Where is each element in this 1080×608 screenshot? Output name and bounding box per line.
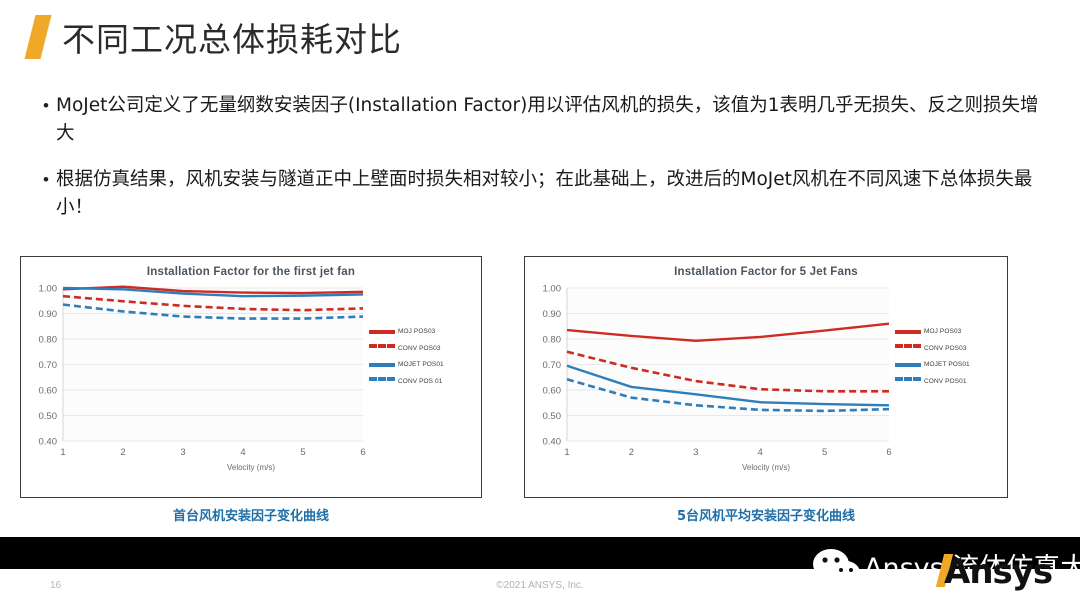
svg-text:1: 1 (564, 447, 569, 458)
legend-item: CONV POS01 (895, 377, 970, 385)
legend-item: MOJET POS01 (895, 361, 970, 368)
svg-text:3: 3 (180, 447, 185, 458)
svg-text:6: 6 (360, 447, 365, 458)
svg-text:4: 4 (240, 447, 245, 458)
svg-text:4: 4 (758, 447, 763, 458)
svg-text:0.80: 0.80 (39, 335, 58, 346)
svg-text:5: 5 (300, 447, 305, 458)
legend-label: MOJET POS01 (398, 361, 444, 368)
legend-swatch-dashed-icon (895, 344, 921, 352)
charts-row: Installation Factor for the first jet fa… (0, 256, 1080, 506)
legend-item: MOJET POS01 (369, 361, 444, 368)
page-title: 不同工况总体损耗对比 (62, 13, 402, 61)
bullet-text: 根据仿真结果，风机安装与隧道正中上壁面时损失相对较小；在此基础上，改进后的MoJ… (56, 166, 1050, 222)
legend-swatch-solid-icon (369, 330, 395, 334)
chart-5-jet-fans: Installation Factor for 5 Jet Fans 0.400… (524, 256, 1008, 498)
svg-text:3: 3 (693, 447, 698, 458)
svg-text:0.50: 0.50 (543, 411, 562, 422)
svg-text:0.70: 0.70 (39, 360, 58, 371)
caption-right: 5台风机平均安装因子变化曲线 (524, 505, 1008, 524)
svg-text:0.90: 0.90 (39, 309, 58, 320)
svg-text:0.60: 0.60 (39, 386, 58, 397)
watermark-overlay: Ansys 流体仿真大营 Ansys (812, 528, 1080, 588)
legend-swatch-dashed-icon (895, 377, 921, 385)
svg-text:6: 6 (886, 447, 891, 458)
legend-label: CONV POS01 (924, 378, 967, 385)
list-item: • 根据仿真结果，风机安装与隧道正中上壁面时损失相对较小；在此基础上，改进后的M… (36, 166, 1050, 222)
svg-text:0.40: 0.40 (39, 437, 58, 448)
ansys-logo-text: Ansys (944, 552, 1052, 592)
list-item: • MoJet公司定义了无量纲数安装因子(Installation Factor… (36, 92, 1050, 148)
svg-text:2: 2 (120, 447, 125, 458)
accent-slash-icon (25, 15, 52, 59)
legend-item: MOJ POS03 (369, 328, 444, 335)
legend-label: MOJET POS01 (924, 361, 970, 368)
svg-text:0.90: 0.90 (543, 309, 562, 320)
legend-swatch-dashed-icon (369, 377, 395, 385)
slide-title-row: 不同工况总体损耗对比 (0, 6, 1080, 68)
legend-swatch-solid-icon (895, 330, 921, 334)
legend-label: MOJ POS03 (398, 328, 435, 335)
chart-legend: MOJ POS03CONV POS03MOJET POS01CONV POS 0… (369, 328, 444, 385)
bullet-text: MoJet公司定义了无量纲数安装因子(Installation Factor)用… (56, 92, 1050, 148)
svg-text:1.00: 1.00 (39, 284, 58, 295)
svg-text:1.00: 1.00 (543, 284, 562, 295)
svg-text:2: 2 (629, 447, 634, 458)
legend-swatch-solid-icon (369, 363, 395, 367)
svg-text:5: 5 (822, 447, 827, 458)
legend-item: MOJ POS03 (895, 328, 970, 335)
chart-first-jet-fan: Installation Factor for the first jet fa… (20, 256, 482, 498)
wechat-icon (812, 548, 860, 588)
bullet-list: • MoJet公司定义了无量纲数安装因子(Installation Factor… (36, 92, 1050, 240)
chart-title: Installation Factor for the first jet fa… (21, 266, 481, 278)
svg-text:0.60: 0.60 (543, 386, 562, 397)
plot-area: 0.400.500.600.700.800.901.00123456 MOJ P… (21, 282, 481, 467)
svg-text:0.50: 0.50 (39, 411, 58, 422)
chart-title: Installation Factor for 5 Jet Fans (525, 266, 1007, 278)
bullet-marker-icon: • (36, 166, 56, 222)
legend-swatch-solid-icon (895, 363, 921, 367)
bullet-marker-icon: • (36, 92, 56, 148)
legend-item: CONV POS03 (895, 344, 970, 352)
legend-item: CONV POS03 (369, 344, 444, 352)
legend-label: CONV POS03 (398, 345, 441, 352)
svg-text:1: 1 (60, 447, 65, 458)
chart-legend: MOJ POS03CONV POS03MOJET POS01CONV POS01 (895, 328, 970, 385)
plot-area: 0.400.500.600.700.800.901.00123456 MOJ P… (525, 282, 1007, 467)
legend-swatch-dashed-icon (369, 344, 395, 352)
legend-label: CONV POS03 (924, 345, 967, 352)
svg-text:0.80: 0.80 (543, 335, 562, 346)
legend-label: MOJ POS03 (924, 328, 961, 335)
legend-item: CONV POS 01 (369, 377, 444, 385)
legend-label: CONV POS 01 (398, 378, 442, 385)
svg-text:0.40: 0.40 (543, 437, 562, 448)
caption-left: 首台风机安装因子变化曲线 (20, 505, 482, 524)
svg-text:0.70: 0.70 (543, 360, 562, 371)
